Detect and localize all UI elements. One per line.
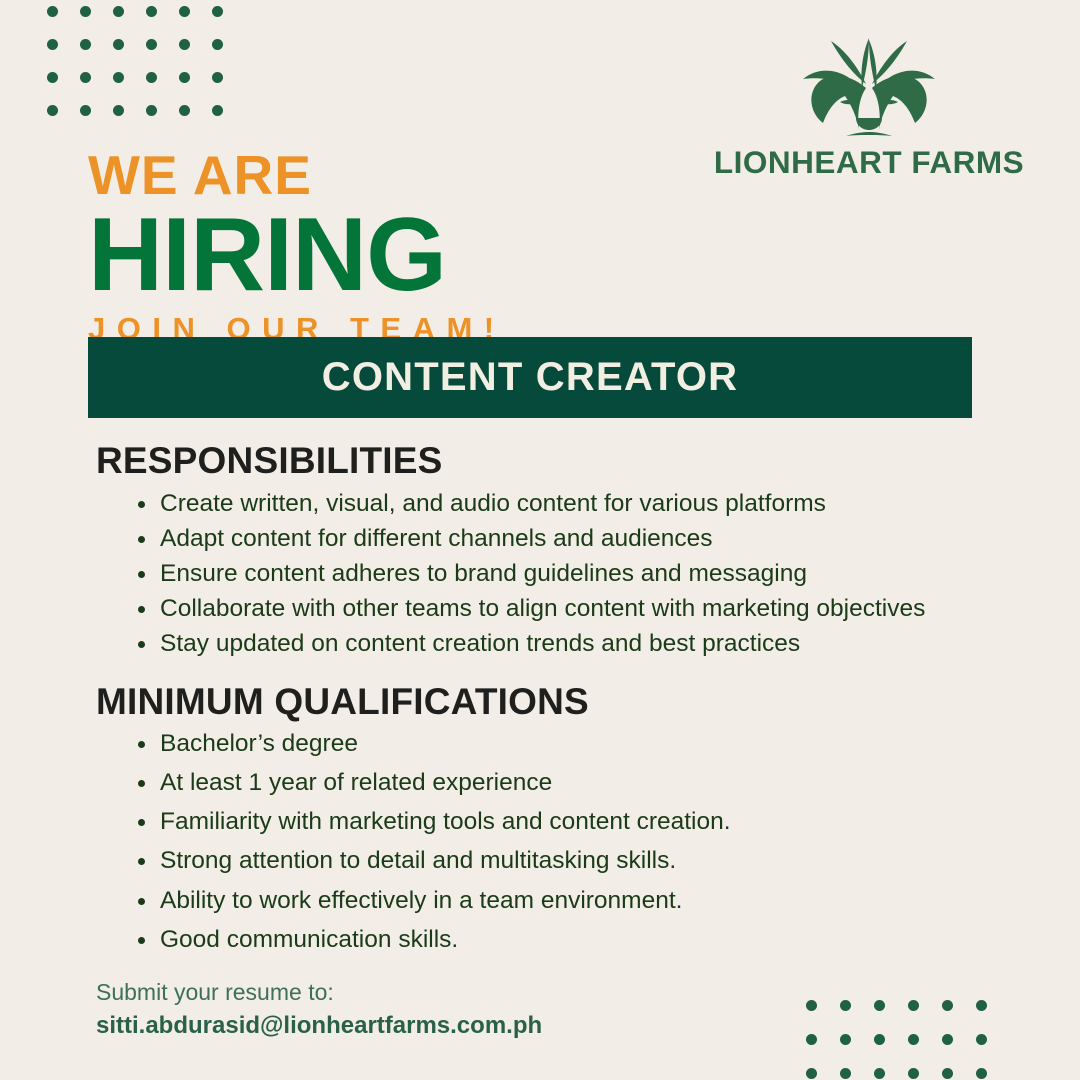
responsibilities-list: Create written, visual, and audio conten… xyxy=(96,487,996,661)
submit-resume-label: Submit your resume to: xyxy=(96,978,542,1007)
decorative-dot-grid-bottom-right xyxy=(806,1000,1010,1080)
decorative-dot xyxy=(806,1000,817,1011)
decorative-dot xyxy=(80,39,91,50)
qualifications-list: Bachelor’s degree At least 1 year of rel… xyxy=(96,727,996,956)
logo-wordmark: LIONHEART FARMS xyxy=(714,144,1024,181)
list-item: Bachelor’s degree xyxy=(138,727,996,761)
decorative-dot xyxy=(113,39,124,50)
decorative-dot xyxy=(47,39,58,50)
decorative-dot xyxy=(179,72,190,83)
contact-email[interactable]: sitti.abdurasid@lionheartfarms.com.ph xyxy=(96,1011,542,1041)
decorative-dot xyxy=(840,1034,851,1045)
list-item: Collaborate with other teams to align co… xyxy=(138,592,996,626)
decorative-dot xyxy=(806,1034,817,1045)
section-responsibilities: RESPONSIBILITIES Create written, visual,… xyxy=(96,440,996,661)
decorative-dot xyxy=(874,1034,885,1045)
headline-we-are: WE ARE xyxy=(88,148,506,203)
decorative-dot xyxy=(113,72,124,83)
decorative-dot xyxy=(212,39,223,50)
footer-contact: Submit your resume to: sitti.abdurasid@l… xyxy=(96,978,542,1041)
decorative-dot xyxy=(80,105,91,116)
decorative-dot xyxy=(47,72,58,83)
hiring-poster: LIONHEART FARMS WE ARE HIRING JOIN OUR T… xyxy=(0,0,1080,1080)
decorative-dot xyxy=(179,6,190,17)
decorative-dot xyxy=(113,6,124,17)
lionheart-lion-palm-logo-icon xyxy=(783,26,955,138)
decorative-dot xyxy=(179,105,190,116)
headline-hiring: HIRING xyxy=(88,205,506,307)
decorative-dot xyxy=(212,72,223,83)
decorative-dot xyxy=(146,39,157,50)
list-item: Familiarity with marketing tools and con… xyxy=(138,805,996,839)
decorative-dot xyxy=(146,105,157,116)
decorative-dot xyxy=(840,1068,851,1079)
decorative-dot xyxy=(47,6,58,17)
decorative-dot xyxy=(47,105,58,116)
section-heading-responsibilities: RESPONSIBILITIES xyxy=(96,440,996,483)
decorative-dot xyxy=(80,6,91,17)
decorative-dot xyxy=(179,39,190,50)
section-minimum-qualifications: MINIMUM QUALIFICATIONS Bachelor’s degree… xyxy=(96,681,996,957)
list-item: Adapt content for different channels and… xyxy=(138,522,996,556)
decorative-dot xyxy=(908,1000,919,1011)
list-item: Ability to work effectively in a team en… xyxy=(138,884,996,918)
decorative-dot xyxy=(113,105,124,116)
decorative-dot xyxy=(212,6,223,17)
decorative-dot xyxy=(908,1034,919,1045)
decorative-dot xyxy=(146,6,157,17)
decorative-dot xyxy=(212,105,223,116)
decorative-dot xyxy=(976,1068,987,1079)
position-title-banner: CONTENT CREATOR xyxy=(88,337,972,418)
decorative-dot xyxy=(840,1000,851,1011)
decorative-dot xyxy=(146,72,157,83)
decorative-dot xyxy=(942,1034,953,1045)
list-item: Good communication skills. xyxy=(138,923,996,957)
decorative-dot xyxy=(80,72,91,83)
decorative-dot xyxy=(874,1068,885,1079)
list-item: Ensure content adheres to brand guidelin… xyxy=(138,557,996,591)
decorative-dot xyxy=(874,1000,885,1011)
decorative-dot xyxy=(908,1068,919,1079)
list-item: Create written, visual, and audio conten… xyxy=(138,487,996,521)
section-heading-minimum-qualifications: MINIMUM QUALIFICATIONS xyxy=(96,681,996,724)
headline-block: WE ARE HIRING JOIN OUR TEAM! xyxy=(88,148,506,344)
decorative-dot xyxy=(942,1068,953,1079)
decorative-dot xyxy=(806,1068,817,1079)
list-item: Strong attention to detail and multitask… xyxy=(138,844,996,878)
decorative-dot xyxy=(976,1000,987,1011)
decorative-dot xyxy=(942,1000,953,1011)
decorative-dot xyxy=(976,1034,987,1045)
decorative-dot-grid-top-left xyxy=(47,6,245,138)
job-details: RESPONSIBILITIES Create written, visual,… xyxy=(96,440,996,962)
list-item: Stay updated on content creation trends … xyxy=(138,627,996,661)
list-item: At least 1 year of related experience xyxy=(138,766,996,800)
brand-logo-block: LIONHEART FARMS xyxy=(724,26,1014,181)
position-title: CONTENT CREATOR xyxy=(322,355,739,400)
